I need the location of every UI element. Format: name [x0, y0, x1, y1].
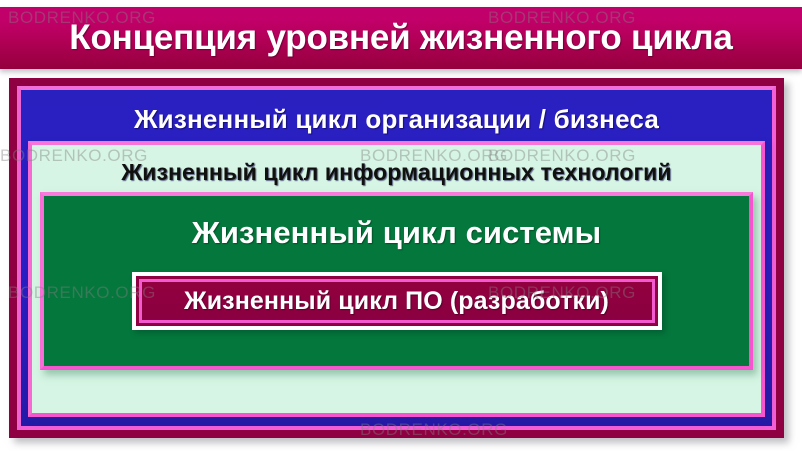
- slide-canvas: Концепция уровней жизненного цикла Жизне…: [0, 0, 802, 451]
- slide-title-bar: Концепция уровней жизненного цикла: [0, 7, 802, 69]
- level-software-development-label: Жизненный цикл ПО (разработки): [184, 287, 609, 316]
- level-system[interactable]: Жизненный цикл системы Жизненный цикл ПО…: [40, 192, 753, 370]
- level-information-technology[interactable]: Жизненный цикл информационных технологий…: [28, 141, 765, 417]
- level-system-band: Жизненный цикл системы: [44, 202, 749, 264]
- level-organization-business-band: Жизненный цикл организации / бизнеса: [28, 97, 765, 141]
- level-software-development-wrapper: Жизненный цикл ПО (разработки): [132, 272, 662, 330]
- level-system-label: Жизненный цикл системы: [192, 215, 602, 251]
- level-information-technology-label: Жизненный цикл информационных технологий: [121, 159, 671, 186]
- level-software-development[interactable]: Жизненный цикл ПО (разработки): [132, 272, 662, 330]
- level-information-technology-band: Жизненный цикл информационных технологий: [40, 152, 753, 192]
- page-title: Концепция уровней жизненного цикла: [0, 18, 802, 58]
- level-organization-business[interactable]: Жизненный цикл организации / бизнеса Жиз…: [17, 86, 776, 430]
- level-organization-business-label: Жизненный цикл организации / бизнеса: [134, 104, 659, 135]
- lifecycle-outer-frame: Жизненный цикл организации / бизнеса Жиз…: [9, 78, 784, 438]
- level-software-development-inner: Жизненный цикл ПО (разработки): [139, 279, 655, 323]
